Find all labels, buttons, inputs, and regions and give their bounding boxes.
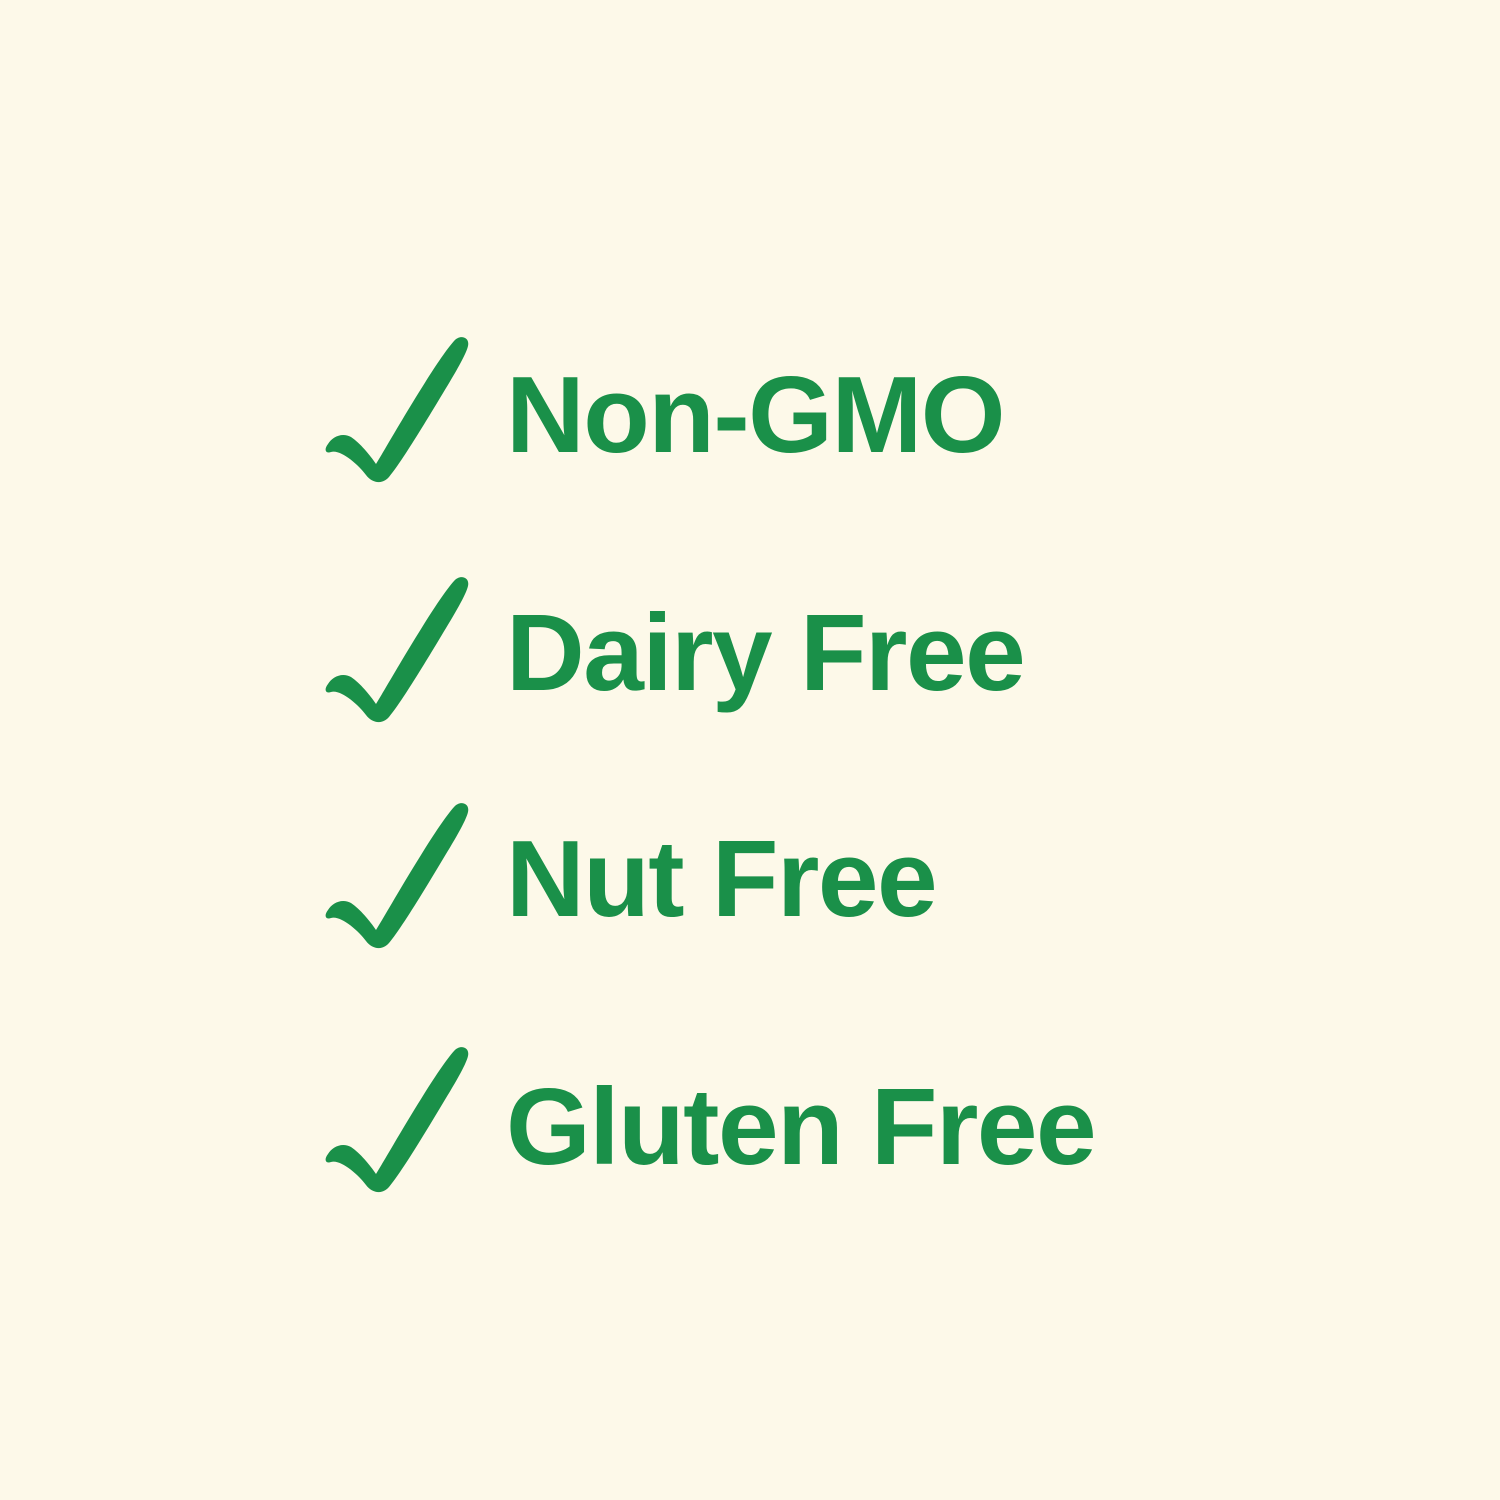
checkmark-icon — [318, 331, 476, 483]
claims-list: Non-GMO Dairy Free Nut Free — [0, 0, 1500, 1500]
claim-label: Dairy Free — [506, 599, 1024, 708]
list-item: Gluten Free — [318, 1032, 1095, 1202]
product-claims-graphic: Non-GMO Dairy Free Nut Free — [0, 0, 1500, 1500]
claim-label: Non-GMO — [506, 361, 1004, 470]
list-item: Nut Free — [318, 788, 936, 958]
claim-label: Nut Free — [506, 825, 936, 934]
list-item: Dairy Free — [318, 562, 1024, 732]
checkmark-icon — [318, 797, 476, 949]
checkmark-icon — [318, 571, 476, 723]
checkmark-icon — [318, 1041, 476, 1193]
list-item: Non-GMO — [318, 322, 1004, 492]
claim-label: Gluten Free — [506, 1073, 1095, 1182]
